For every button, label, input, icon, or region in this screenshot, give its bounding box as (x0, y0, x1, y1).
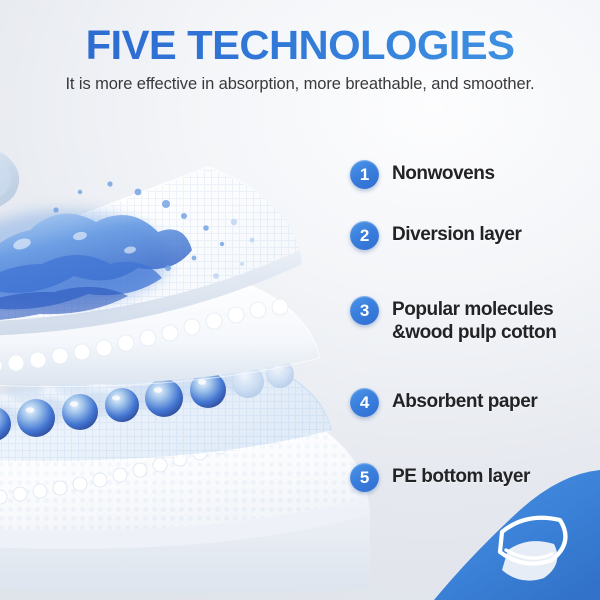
feature-badge-3: 3 (350, 296, 379, 325)
feature-label-2: Diversion layer (392, 221, 522, 246)
feature-item-1[interactable]: 1 Nonwovens (350, 160, 495, 189)
corner-shape (434, 470, 600, 600)
feature-item-2[interactable]: 2 Diversion layer (350, 221, 522, 250)
page-title: FIVE TECHNOLOGIES (0, 0, 600, 68)
feature-item-3[interactable]: 3 Popular molecules &wood pulp cotton (350, 296, 556, 344)
feature-item-4[interactable]: 4 Absorbent paper (350, 388, 537, 417)
feature-badge-2: 2 (350, 221, 379, 250)
feature-label-1: Nonwovens (392, 160, 495, 185)
feature-badge-5: 5 (350, 463, 379, 492)
feature-label-4: Absorbent paper (392, 388, 537, 413)
corner-logo-area (410, 470, 600, 600)
feature-label-3: Popular molecules &wood pulp cotton (392, 296, 556, 344)
feature-badge-1: 1 (350, 160, 379, 189)
feature-badge-4: 4 (350, 388, 379, 417)
product-illustration (0, 118, 370, 600)
infographic-poster: FIVE TECHNOLOGIES It is more effective i… (0, 0, 600, 600)
page-subtitle: It is more effective in absorption, more… (0, 74, 600, 95)
header: FIVE TECHNOLOGIES It is more effective i… (0, 0, 600, 95)
